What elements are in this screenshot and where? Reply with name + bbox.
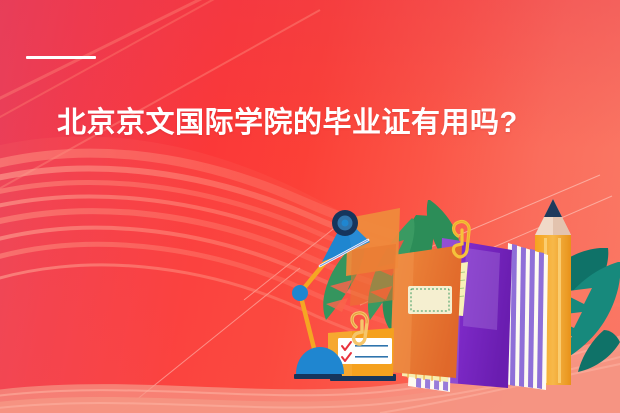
article-banner: 北京京文国际学院的毕业证有用吗? [0,0,620,413]
accent-rule [26,56,96,59]
stationery-desk-illustration [0,0,620,413]
page-title: 北京京文国际学院的毕业证有用吗? [57,104,518,142]
